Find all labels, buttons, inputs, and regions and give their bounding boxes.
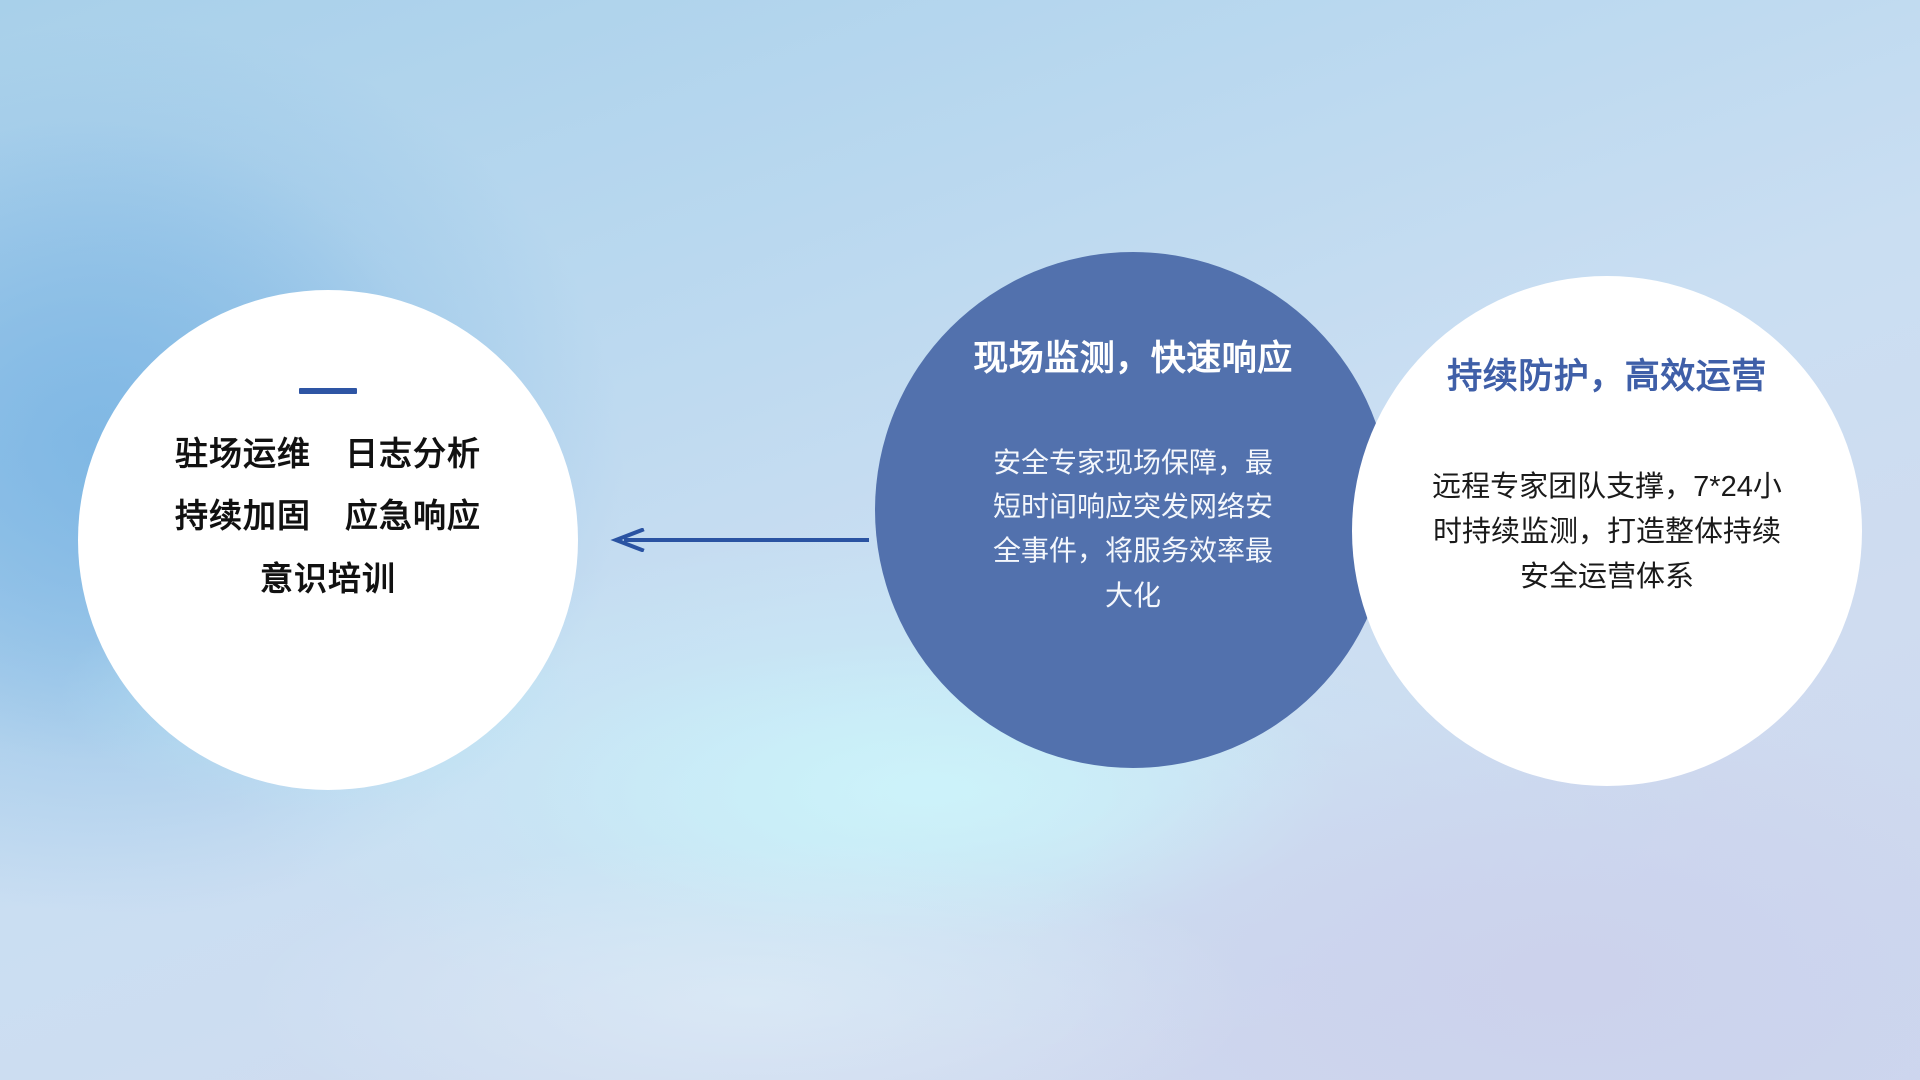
continuous-protection-body: 远程专家团队支撑，7*24小时持续监测，打造整体持续安全运营体系 [1421,465,1793,601]
divider-dash-icon [299,388,357,394]
capability-line: 驻场运维 日志分析 [175,436,481,472]
arrow-left-icon [608,528,870,552]
slide-canvas: 驻场运维 日志分析 持续加固 应急响应 意识培训 现场监测，快速响应 安全专家现… [0,0,1920,1080]
continuous-protection-title: 持续防护，高效运营 [1447,348,1767,399]
capability-line: 持续加固 应急响应 [175,498,481,534]
left-capability-circle: 驻场运维 日志分析 持续加固 应急响应 意识培训 [78,290,578,790]
background-glow-bottom-center [250,840,1250,1080]
capability-line: 意识培训 [260,561,396,597]
capability-list: 驻场运维 日志分析 持续加固 应急响应 意识培训 [175,436,481,597]
continuous-protection-circle: 持续防护，高效运营 远程专家团队支撑，7*24小时持续监测，打造整体持续安全运营… [1352,276,1862,786]
onsite-monitoring-title: 现场监测，快速响应 [973,330,1293,381]
onsite-monitoring-body: 安全专家现场保障，最短时间响应突发网络安全事件，将服务效率最大化 [983,441,1283,618]
onsite-monitoring-circle: 现场监测，快速响应 安全专家现场保障，最短时间响应突发网络安全事件，将服务效率最… [875,252,1391,768]
